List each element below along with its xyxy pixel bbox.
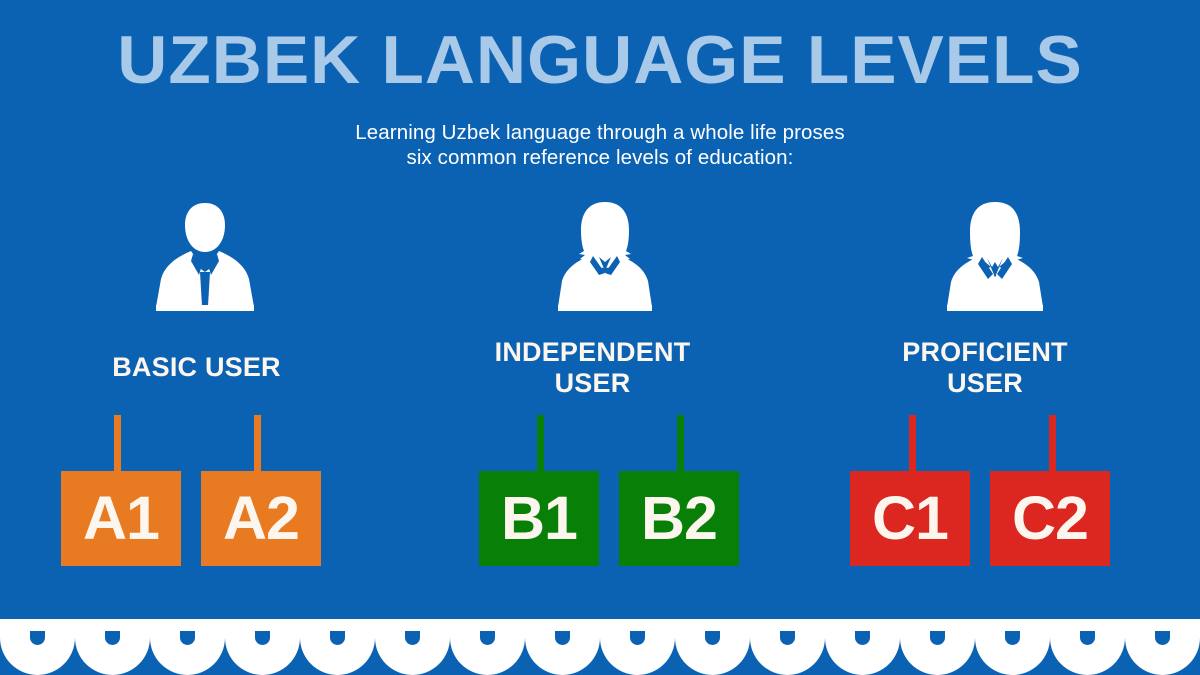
level-box-a1[interactable]: A1 xyxy=(61,471,181,566)
group-label-independent-line1: INDEPENDENT xyxy=(495,337,691,368)
level-box-b2[interactable]: B2 xyxy=(619,471,739,566)
female-blouse-person-icon xyxy=(455,195,755,313)
group-label-proficient-line1: PROFICIENT xyxy=(902,337,1068,368)
group-label-independent[interactable]: INDEPENDENT USER xyxy=(455,320,730,415)
level-box-c2[interactable]: C2 xyxy=(990,471,1110,566)
male-businessperson-icon xyxy=(55,195,355,313)
page-title: UZBEK LANGUAGE LEVELS xyxy=(0,26,1200,94)
group-label-proficient[interactable]: PROFICIENT USER xyxy=(845,320,1125,415)
bottom-scallop-decoration xyxy=(0,619,1200,675)
group-basic: BASIC USER A1 A2 xyxy=(55,195,355,566)
subtitle-line-1: Learning Uzbek language through a whole … xyxy=(0,120,1200,145)
connector-group-independent xyxy=(455,415,755,471)
subtitle-line-2: six common reference levels of education… xyxy=(0,145,1200,170)
page-subtitle: Learning Uzbek language through a whole … xyxy=(0,120,1200,170)
level-box-c1[interactable]: C1 xyxy=(850,471,970,566)
level-row-proficient: C1 C2 xyxy=(845,471,1145,566)
connector-line-b1 xyxy=(537,415,544,471)
connector-group-proficient xyxy=(845,415,1145,471)
group-label-independent-line2: USER xyxy=(555,368,631,399)
infographic-canvas: UZBEK LANGUAGE LEVELS Learning Uzbek lan… xyxy=(0,0,1200,675)
connector-line-a1 xyxy=(114,415,121,471)
level-row-basic: A1 A2 xyxy=(55,471,355,566)
level-box-b1[interactable]: B1 xyxy=(479,471,599,566)
level-row-independent: B1 B2 xyxy=(455,471,755,566)
group-label-proficient-line2: USER xyxy=(947,368,1023,399)
group-label-basic[interactable]: BASIC USER xyxy=(55,320,338,415)
connector-line-b2 xyxy=(677,415,684,471)
connector-line-c1 xyxy=(909,415,916,471)
connector-group-basic xyxy=(55,415,355,471)
level-box-a2[interactable]: A2 xyxy=(201,471,321,566)
female-blazer-person-icon xyxy=(845,195,1145,313)
group-independent: INDEPENDENT USER B1 B2 xyxy=(455,195,755,566)
connector-line-c2 xyxy=(1049,415,1056,471)
connector-line-a2 xyxy=(254,415,261,471)
group-proficient: PROFICIENT USER C1 C2 xyxy=(845,195,1145,566)
